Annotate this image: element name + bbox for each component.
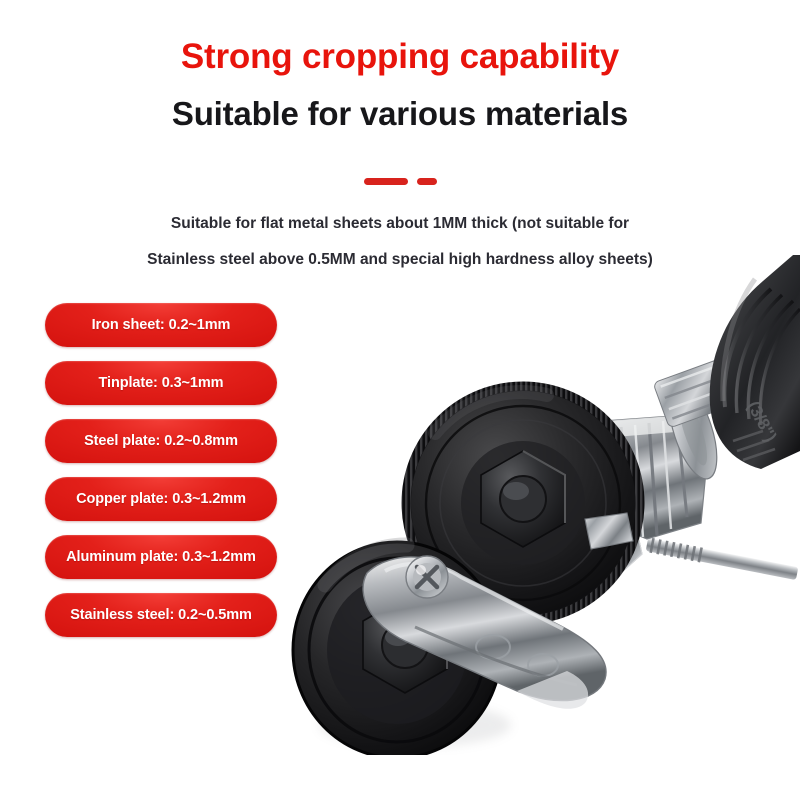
material-spec-label: Stainless steel: 0.2~0.5mm: [70, 607, 252, 623]
promo-page: Strong cropping capability Suitable for …: [0, 0, 800, 800]
material-spec-label: Aluminum plate: 0.3~1.2mm: [66, 549, 256, 565]
threaded-bolt: [646, 538, 799, 580]
material-spec-pill-steel-plate: Steel plate: 0.2~0.8mm: [45, 419, 277, 463]
product-photo: (3/8"): [255, 255, 800, 755]
divider-dash-long: [364, 178, 408, 185]
divider-dash-short: [417, 178, 437, 185]
page-title-primary: Strong cropping capability: [0, 38, 800, 77]
material-spec-label: Iron sheet: 0.2~1mm: [92, 317, 231, 333]
material-spec-label: Copper plate: 0.3~1.2mm: [76, 491, 246, 507]
material-spec-pill-copper-plate: Copper plate: 0.3~1.2mm: [45, 477, 277, 521]
material-spec-label: Tinplate: 0.3~1mm: [99, 375, 224, 391]
material-spec-pill-stainless-steel: Stainless steel: 0.2~0.5mm: [45, 593, 277, 637]
material-spec-pill-tinplate: Tinplate: 0.3~1mm: [45, 361, 277, 405]
material-spec-list: Iron sheet: 0.2~1mm Tinplate: 0.3~1mm St…: [45, 303, 277, 651]
description-line-1: Suitable for flat metal sheets about 1MM…: [0, 206, 800, 242]
divider: [0, 178, 800, 185]
material-spec-pill-iron-sheet: Iron sheet: 0.2~1mm: [45, 303, 277, 347]
material-spec-pill-aluminum-plate: Aluminum plate: 0.3~1.2mm: [45, 535, 277, 579]
page-title-secondary: Suitable for various materials: [0, 96, 800, 132]
material-spec-label: Steel plate: 0.2~0.8mm: [84, 433, 238, 449]
drill-chuck: (3/8"): [710, 255, 800, 469]
phillips-screw: [406, 556, 448, 598]
